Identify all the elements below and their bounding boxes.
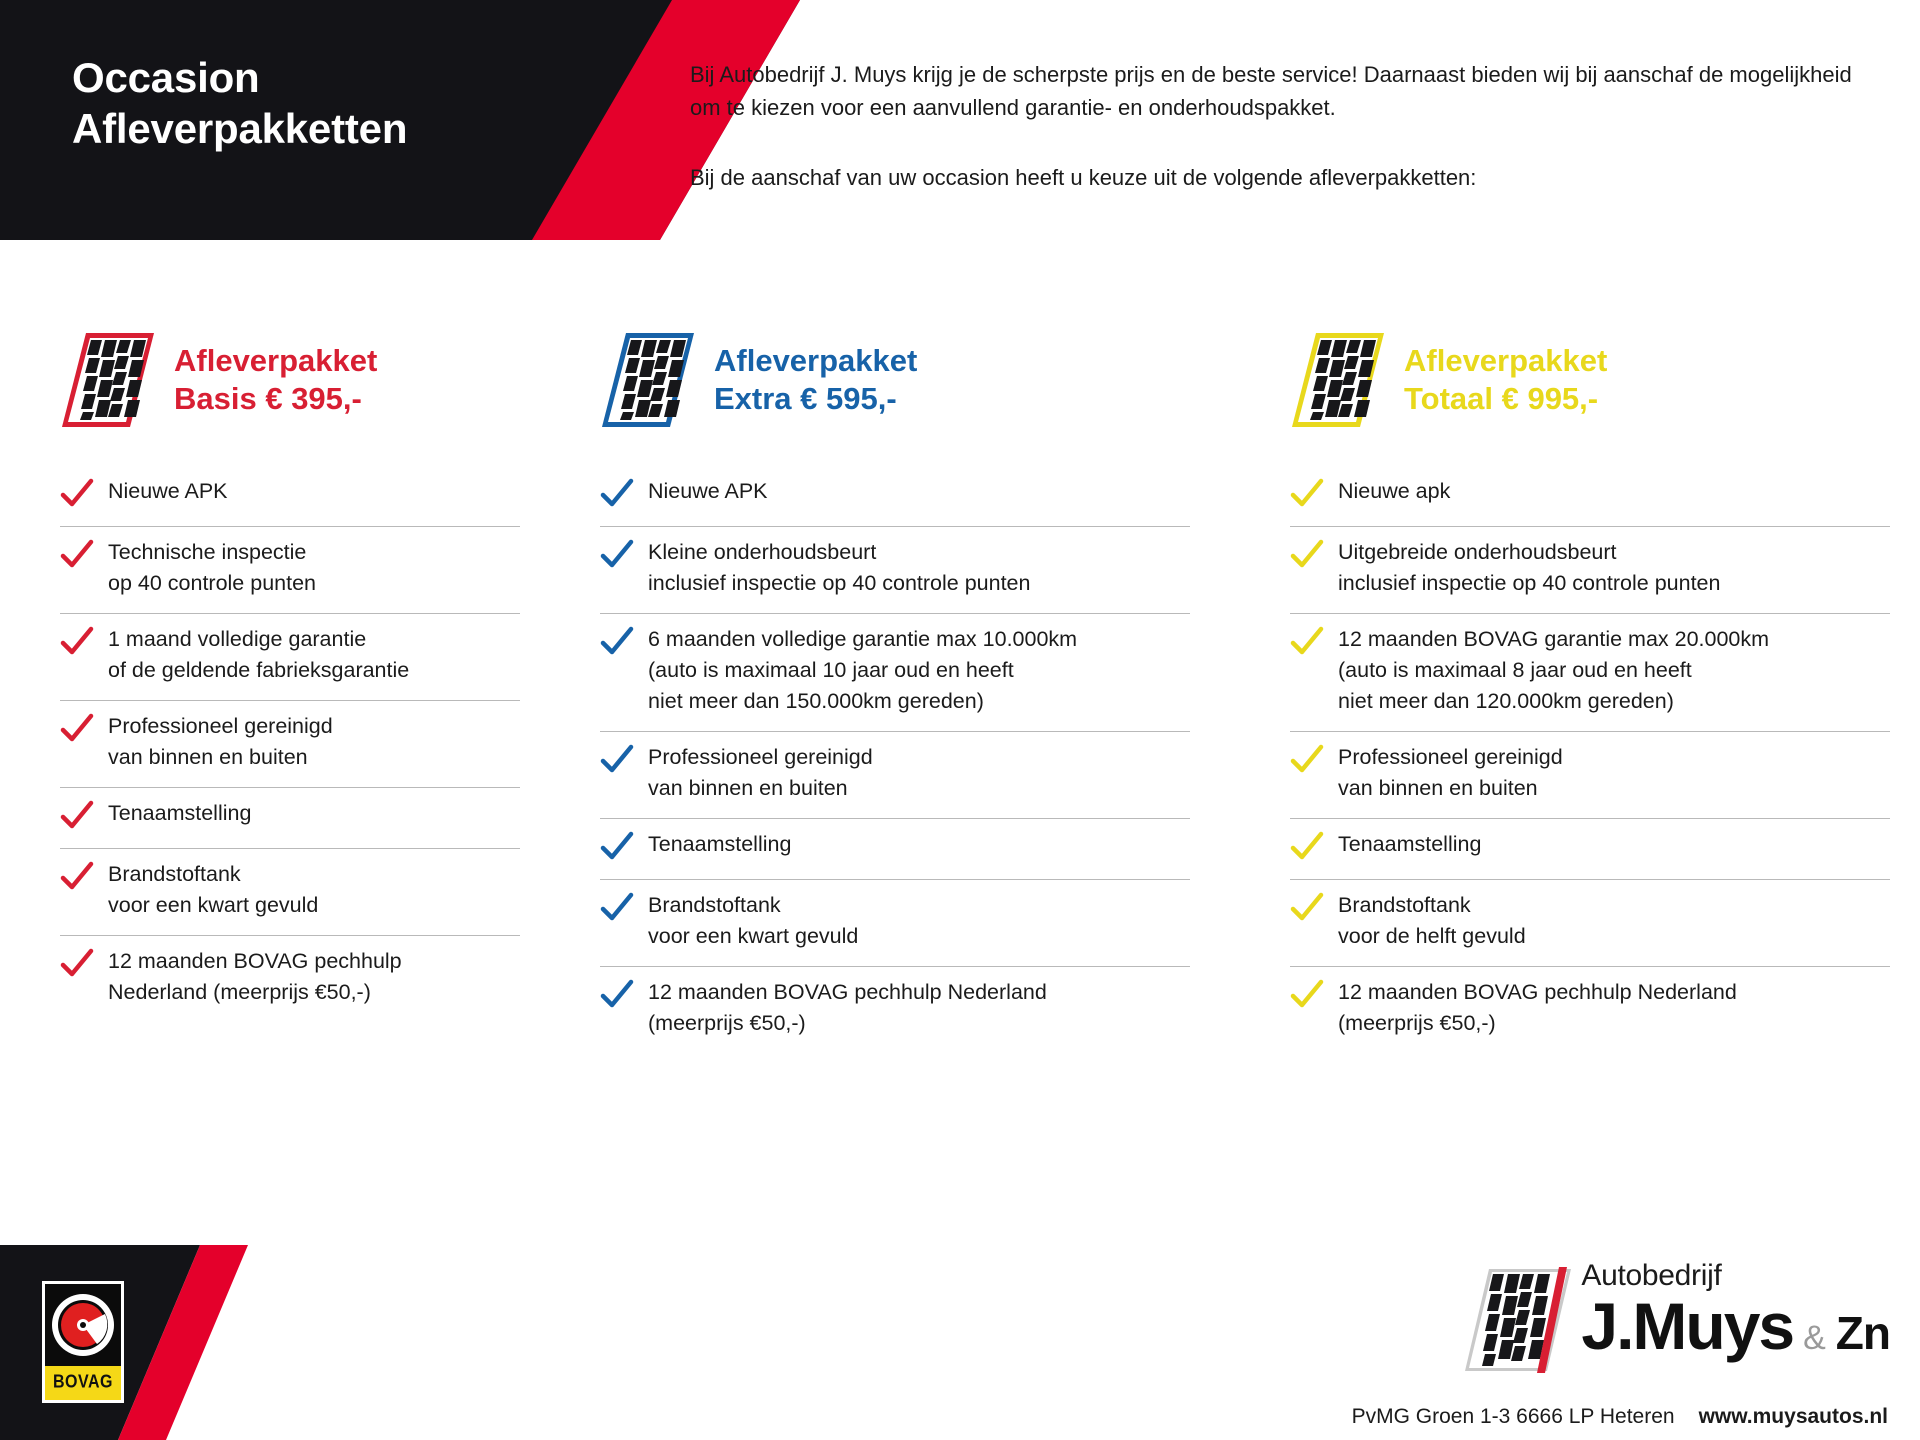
check-icon <box>600 478 634 512</box>
package-title-line1: Afleverpakket <box>714 342 917 380</box>
package-title-totaal: Afleverpakket Totaal € 995,- <box>1404 342 1607 419</box>
intro-paragraph-2: Bij de aanschaf van uw occasion heeft u … <box>690 161 1870 194</box>
feature-text: Nieuwe APK <box>648 476 768 507</box>
feature-text: Uitgebreide onderhoudsbeurt inclusief in… <box>1338 537 1720 599</box>
list-item: Brandstoftank voor de helft gevuld <box>1290 880 1890 967</box>
page-title: Occasion Afleverpakketten <box>72 52 592 154</box>
bovag-logo: BOVAG <box>42 1281 124 1403</box>
package-title-line2: Totaal € 995,- <box>1404 380 1607 418</box>
company-logo: Autobedrijf J.Muys & Zn <box>1459 1255 1890 1379</box>
check-icon <box>60 626 94 660</box>
check-icon <box>1290 478 1324 512</box>
company-name-block: Autobedrijf J.Muys & Zn <box>1581 1255 1890 1360</box>
check-icon <box>600 539 634 573</box>
check-icon <box>600 979 634 1013</box>
company-website[interactable]: www.muysautos.nl <box>1699 1405 1888 1429</box>
check-icon <box>60 948 94 982</box>
list-item: Nieuwe APK <box>60 466 520 527</box>
bovag-label: BOVAG <box>53 1373 113 1394</box>
feature-text: Brandstoftank voor de helft gevuld <box>1338 890 1526 952</box>
check-icon <box>60 539 94 573</box>
list-item: Tenaamstelling <box>60 788 520 849</box>
list-item: Brandstoftank voor een kwart gevuld <box>60 849 520 936</box>
check-icon <box>1290 626 1324 660</box>
package-title-line1: Afleverpakket <box>1404 342 1607 380</box>
page-header: Occasion Afleverpakketten Bij Autobedrij… <box>0 0 1920 240</box>
feature-text: Nieuwe APK <box>108 476 228 507</box>
list-item: Uitgebreide onderhoudsbeurt inclusief in… <box>1290 527 1890 614</box>
feature-text: Brandstoftank voor een kwart gevuld <box>648 890 858 952</box>
package-header-totaal: Afleverpakket Totaal € 995,- <box>1290 320 1890 440</box>
list-item: Kleine onderhoudsbeurt inclusief inspect… <box>600 527 1190 614</box>
feature-text: Professioneel gereinigd van binnen en bu… <box>1338 742 1563 804</box>
package-title-extra: Afleverpakket Extra € 595,- <box>714 342 917 419</box>
list-item: Professioneel gereinigd van binnen en bu… <box>1290 732 1890 819</box>
list-item: Professioneel gereinigd van binnen en bu… <box>600 732 1190 819</box>
package-columns: Afleverpakket Basis € 395,- Nieuwe APK T… <box>0 320 1920 1220</box>
feature-text: Tenaamstelling <box>108 798 251 829</box>
feature-text: 1 maand volledige garantie of de geldend… <box>108 624 409 686</box>
list-item: 12 maanden BOVAG pechhulp Nederland (mee… <box>600 967 1190 1053</box>
check-icon <box>600 744 634 778</box>
package-title-line2: Extra € 595,- <box>714 380 917 418</box>
feature-text: Tenaamstelling <box>648 829 791 860</box>
tire-icon <box>600 331 696 429</box>
page-footer: BOVAG <box>0 1245 1920 1440</box>
list-item: 1 maand volledige garantie of de geldend… <box>60 614 520 701</box>
check-icon <box>1290 831 1324 865</box>
tire-icon <box>1290 331 1386 429</box>
feature-text: 12 maanden BOVAG pechhulp Nederland (mee… <box>648 977 1047 1039</box>
list-item: 12 maanden BOVAG pechhulp Nederland (mee… <box>60 936 520 1022</box>
check-icon <box>60 861 94 895</box>
check-icon <box>1290 539 1324 573</box>
list-item: 12 maanden BOVAG garantie max 20.000km (… <box>1290 614 1890 732</box>
package-card-extra: Afleverpakket Extra € 595,- Nieuwe APK K… <box>600 320 1190 1052</box>
list-item: Tenaamstelling <box>600 819 1190 880</box>
package-title-line1: Afleverpakket <box>174 342 377 380</box>
company-address: PvMG Groen 1-3 6666 LP Heteren <box>1352 1405 1675 1429</box>
check-icon <box>600 626 634 660</box>
page-title-line1: Occasion <box>72 52 592 103</box>
feature-text: Technische inspectie op 40 controle punt… <box>108 537 316 599</box>
intro-paragraph-1: Bij Autobedrijf J. Muys krijg je de sche… <box>690 58 1870 125</box>
feature-text: 12 maanden BOVAG garantie max 20.000km (… <box>1338 624 1769 717</box>
list-item: Brandstoftank voor een kwart gevuld <box>600 880 1190 967</box>
tire-icon <box>60 331 156 429</box>
company-name: J.Muys <box>1581 1293 1793 1360</box>
feature-text: Professioneel gereinigd van binnen en bu… <box>648 742 873 804</box>
feature-text: Nieuwe apk <box>1338 476 1450 507</box>
package-title-basis: Afleverpakket Basis € 395,- <box>174 342 377 419</box>
intro-text: Bij Autobedrijf J. Muys krijg je de sche… <box>690 58 1870 194</box>
check-icon <box>1290 892 1324 926</box>
check-icon <box>1290 979 1324 1013</box>
list-item: 12 maanden BOVAG pechhulp Nederland (mee… <box>1290 967 1890 1053</box>
package-title-line2: Basis € 395,- <box>174 380 377 418</box>
ampersand: & <box>1803 1321 1826 1355</box>
check-icon <box>60 800 94 834</box>
list-item: Nieuwe apk <box>1290 466 1890 527</box>
feature-list-totaal: Nieuwe apk Uitgebreide onderhoudsbeurt i… <box>1290 466 1890 1052</box>
bovag-label-band: BOVAG <box>45 1366 121 1400</box>
package-header-extra: Afleverpakket Extra € 595,- <box>600 320 1190 440</box>
package-card-totaal: Afleverpakket Totaal € 995,- Nieuwe apk … <box>1290 320 1890 1052</box>
package-header-basis: Afleverpakket Basis € 395,- <box>60 320 520 440</box>
feature-text: Professioneel gereinigd van binnen en bu… <box>108 711 333 773</box>
package-card-basis: Afleverpakket Basis € 395,- Nieuwe APK T… <box>60 320 520 1022</box>
feature-list-basis: Nieuwe APK Technische inspectie op 40 co… <box>60 466 520 1022</box>
feature-text: Brandstoftank voor een kwart gevuld <box>108 859 318 921</box>
company-line1: Autobedrijf <box>1581 1261 1890 1291</box>
check-icon <box>600 831 634 865</box>
check-icon <box>60 713 94 747</box>
list-item: 6 maanden volledige garantie max 10.000k… <box>600 614 1190 732</box>
company-line2: J.Muys & Zn <box>1581 1293 1890 1360</box>
feature-text: Kleine onderhoudsbeurt inclusief inspect… <box>648 537 1030 599</box>
list-item: Technische inspectie op 40 controle punt… <box>60 527 520 614</box>
feature-text: 6 maanden volledige garantie max 10.000k… <box>648 624 1077 717</box>
check-icon <box>1290 744 1324 778</box>
company-suffix: Zn <box>1836 1310 1890 1356</box>
feature-text: 12 maanden BOVAG pechhulp Nederland (mee… <box>108 946 402 1008</box>
check-icon <box>600 892 634 926</box>
list-item: Tenaamstelling <box>1290 819 1890 880</box>
feature-list-extra: Nieuwe APK Kleine onderhoudsbeurt inclus… <box>600 466 1190 1052</box>
feature-text: Tenaamstelling <box>1338 829 1481 860</box>
list-item: Professioneel gereinigd van binnen en bu… <box>60 701 520 788</box>
footer-contact: PvMG Groen 1-3 6666 LP Heteren www.muysa… <box>1352 1405 1888 1429</box>
list-item: Nieuwe APK <box>600 466 1190 527</box>
page-title-line2: Afleverpakketten <box>72 103 592 154</box>
tire-icon <box>1459 1261 1577 1379</box>
check-icon <box>60 478 94 512</box>
feature-text: 12 maanden BOVAG pechhulp Nederland (mee… <box>1338 977 1737 1039</box>
